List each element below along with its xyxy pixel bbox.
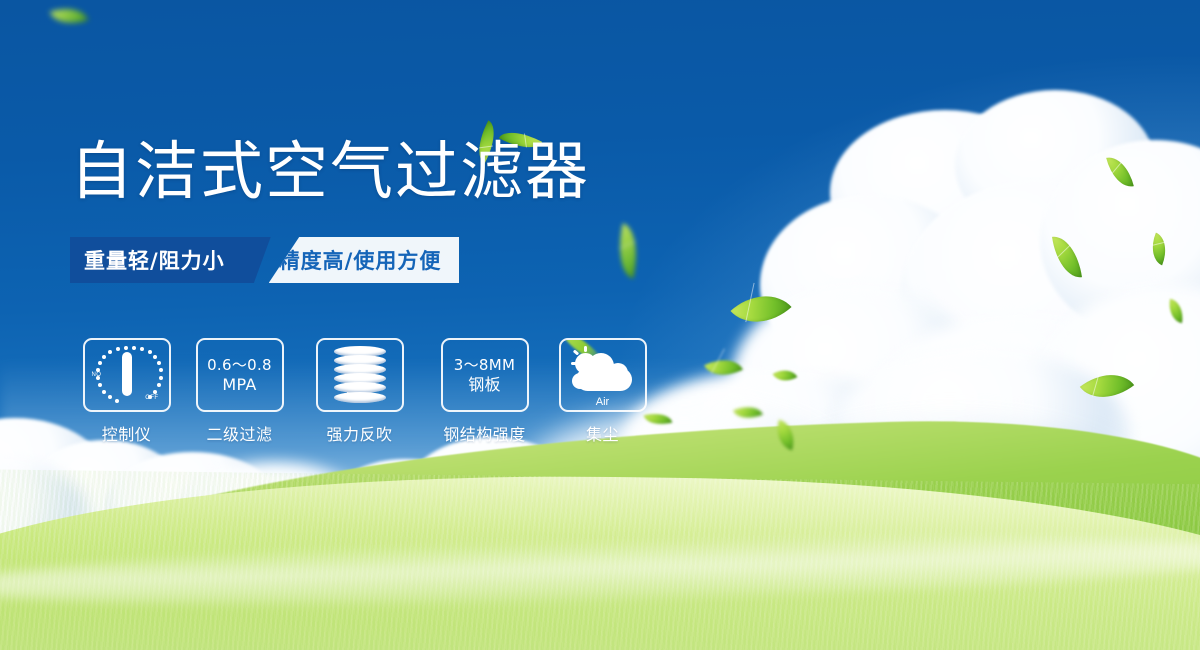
steel-plate-label: 钢板 bbox=[454, 375, 515, 394]
steel-thickness-value: 3〜8MM bbox=[454, 356, 515, 375]
filter-stack-graphic bbox=[334, 346, 386, 404]
feature-label: 强力反吹 bbox=[326, 421, 392, 445]
feature-label: 钢结构强度 bbox=[443, 421, 526, 445]
air-cloud-graphic: Air bbox=[570, 345, 636, 405]
feature-item-controller[interactable]: NO OFF 控制仪 bbox=[70, 338, 183, 445]
grass-bottom-glow bbox=[0, 532, 1200, 650]
pressure-unit: MPA bbox=[207, 375, 272, 394]
feature-label: 集尘 bbox=[586, 421, 619, 445]
filter-stack-icon bbox=[316, 338, 404, 412]
hero-banner: 自洁式空气过滤器 重量轻/阻力小 精度高/使用方便 bbox=[0, 0, 1200, 650]
gauge-label-no: NO bbox=[92, 372, 102, 378]
feature-item-steel-strength[interactable]: 3〜8MM 钢板 钢结构强度 bbox=[423, 338, 546, 445]
feature-item-dust-collection[interactable]: Air 集尘 bbox=[546, 338, 659, 445]
feature-label: 控制仪 bbox=[102, 421, 152, 445]
gauge-icon: NO OFF bbox=[83, 338, 171, 412]
subtitle-divider-slant bbox=[241, 237, 271, 283]
grass-field bbox=[0, 422, 1200, 650]
subtitle-bar: 重量轻/阻力小 精度高/使用方便 bbox=[70, 237, 459, 283]
gauge-needle bbox=[122, 352, 132, 396]
air-cloud-icon: Air bbox=[559, 338, 647, 412]
subtitle-right-text: 精度高/使用方便 bbox=[269, 237, 460, 283]
pressure-value: 0.6〜0.8 bbox=[207, 356, 272, 375]
feature-item-blowback[interactable]: 强力反吹 bbox=[296, 338, 423, 445]
steel-plate-text: 3〜8MM 钢板 bbox=[454, 356, 515, 394]
feature-label: 二级过滤 bbox=[206, 421, 272, 445]
gauge-label-off: OFF bbox=[145, 395, 158, 401]
pressure-text: 0.6〜0.8 MPA bbox=[207, 356, 272, 394]
feature-item-two-stage-filter[interactable]: 0.6〜0.8 MPA 二级过滤 bbox=[183, 338, 296, 445]
gauge-graphic: NO OFF bbox=[91, 344, 163, 406]
steel-plate-text-icon: 3〜8MM 钢板 bbox=[441, 338, 529, 412]
pressure-text-icon: 0.6〜0.8 MPA bbox=[196, 338, 284, 412]
page-title: 自洁式空气过滤器 bbox=[70, 140, 590, 203]
feature-list: NO OFF 控制仪 0.6〜0.8 MPA 二级过滤 bbox=[70, 338, 659, 445]
air-label: Air bbox=[570, 396, 636, 408]
subtitle-left-text: 重量轻/阻力小 bbox=[70, 237, 241, 283]
